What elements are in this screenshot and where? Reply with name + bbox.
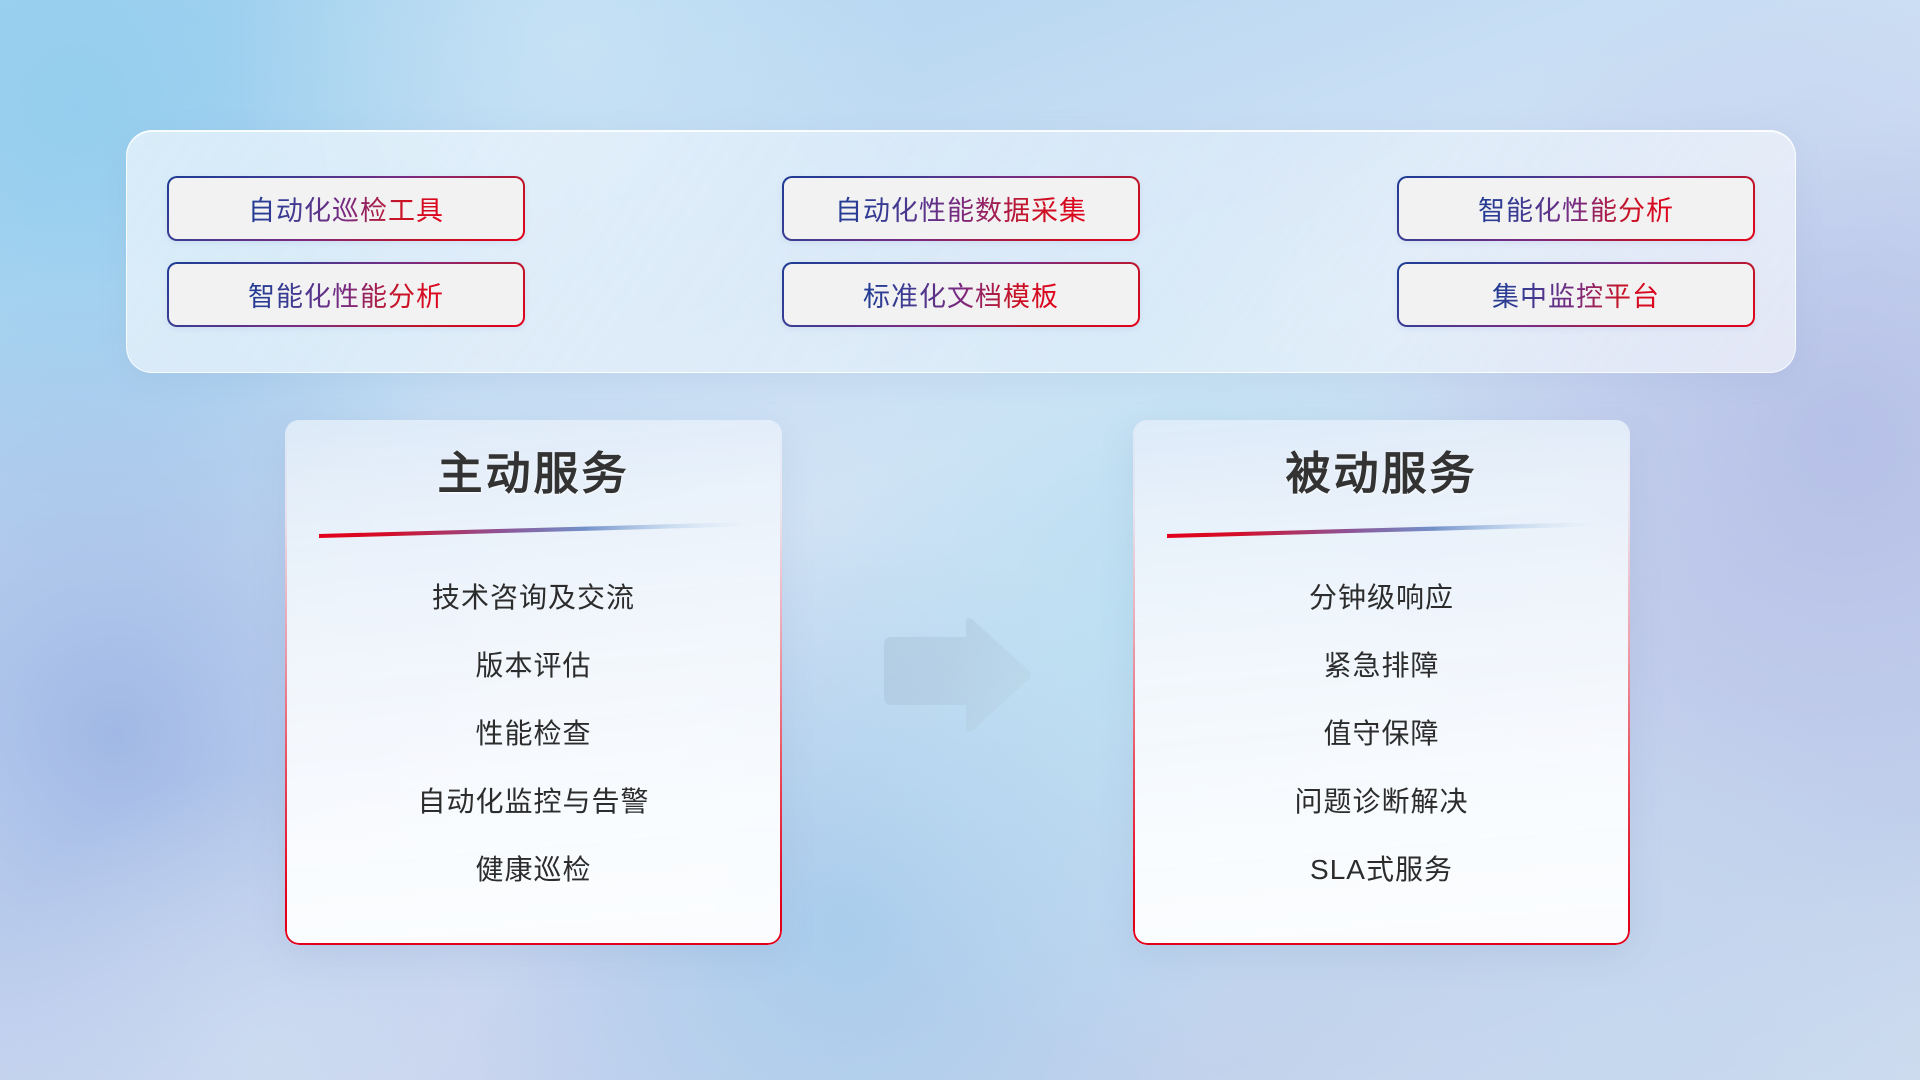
capability-row-1: 自动化巡检工具 自动化性能数据采集 智能化性能分析	[167, 176, 1755, 241]
capability-tag-label: 智能化性能分析	[1478, 189, 1674, 228]
service-list-item: 自动化监控与告警	[417, 768, 649, 836]
service-list-item: 分钟级响应	[1309, 564, 1454, 632]
capability-tag-label: 标准化文档模板	[863, 275, 1059, 314]
capability-tag-intelligent-performance-analysis-bottom[interactable]: 智能化性能分析	[167, 262, 525, 327]
capability-tag-label: 自动化巡检工具	[248, 189, 444, 228]
arrow-right-icon	[874, 615, 1044, 735]
service-card-passive: 被动服务 分钟级响应 紧急排障 值守保障	[1133, 420, 1630, 945]
service-list-item: 技术咨询及交流	[432, 564, 635, 632]
service-card-active: 主动服务 技术咨询及交流 版本评估 性能检查	[285, 420, 782, 945]
capability-panel: 自动化巡检工具 自动化性能数据采集 智能化性能分析 智能化性能分析 标准化文档模…	[126, 130, 1796, 373]
capability-tag-centralized-monitoring-platform[interactable]: 集中监控平台	[1397, 262, 1755, 327]
service-list-item: 性能检查	[475, 700, 591, 768]
service-card-title: 被动服务	[1285, 448, 1477, 500]
service-card-title: 主动服务	[437, 448, 629, 500]
service-list-item: 版本评估	[475, 632, 591, 700]
service-list-item: SLA式服务	[1310, 836, 1453, 904]
service-list-item: 问题诊断解决	[1294, 768, 1468, 836]
capability-row-2: 智能化性能分析 标准化文档模板 集中监控平台	[167, 262, 1755, 327]
capability-tag-label: 自动化性能数据采集	[835, 189, 1087, 228]
capability-tag-automated-inspection-tool[interactable]: 自动化巡检工具	[167, 176, 525, 241]
service-list-item: 紧急排障	[1323, 632, 1439, 700]
capability-tag-label: 智能化性能分析	[248, 275, 444, 314]
service-list-item: 值守保障	[1323, 700, 1439, 768]
service-list-item: 健康巡检	[475, 836, 591, 904]
service-item-list: 分钟级响应 紧急排障 值守保障 问题诊断解决 SLA式服务	[1167, 564, 1596, 904]
title-divider	[319, 522, 748, 538]
capability-tag-automated-performance-data-collection[interactable]: 自动化性能数据采集	[782, 176, 1140, 241]
capability-tag-label: 集中监控平台	[1492, 275, 1660, 314]
title-divider	[1167, 522, 1596, 538]
capability-tag-intelligent-performance-analysis-top[interactable]: 智能化性能分析	[1397, 176, 1755, 241]
service-item-list: 技术咨询及交流 版本评估 性能检查 自动化监控与告警 健康巡检	[319, 564, 748, 904]
capability-tag-standardized-document-template[interactable]: 标准化文档模板	[782, 262, 1140, 327]
